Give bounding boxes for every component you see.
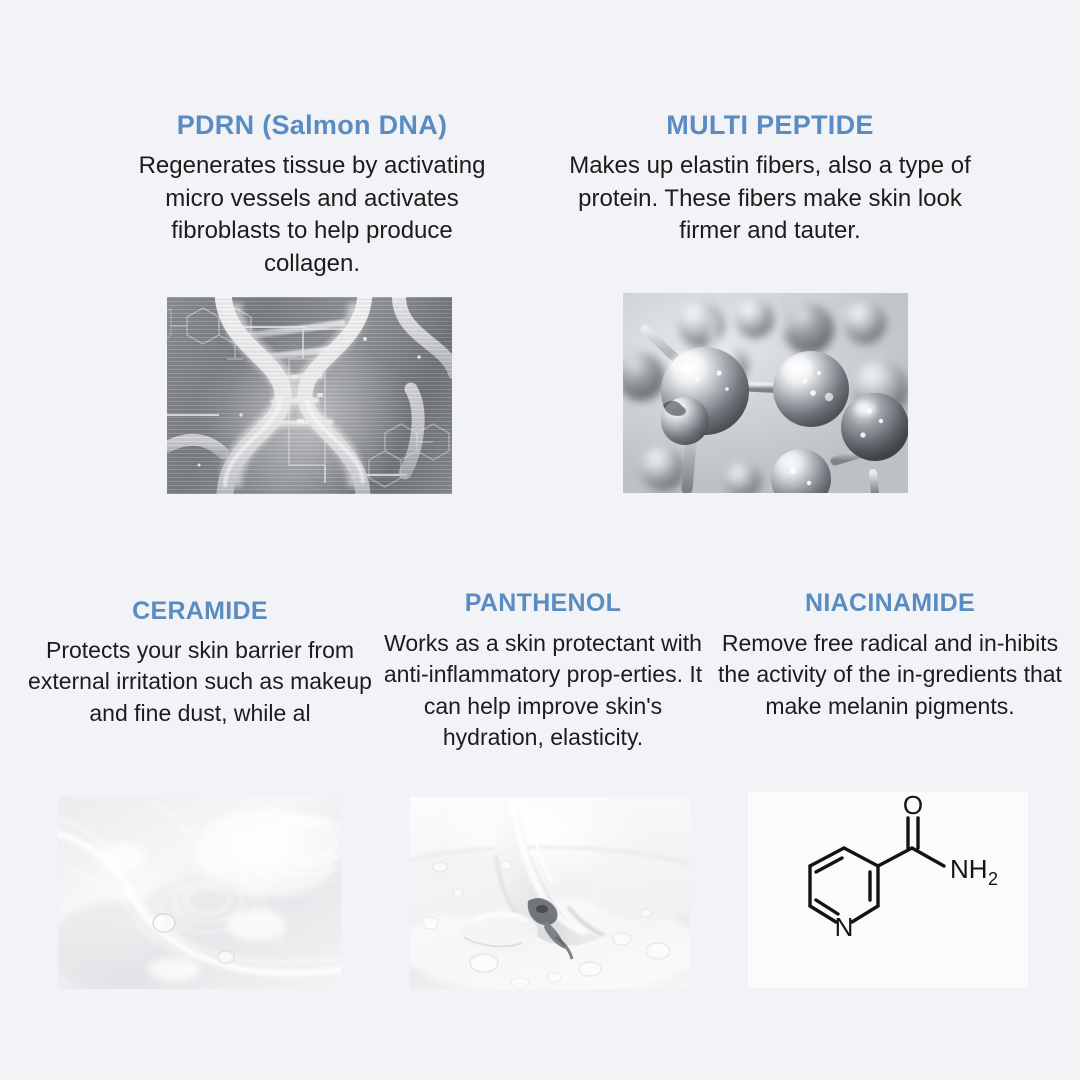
nitrogen-label: N <box>835 912 854 942</box>
ingredient-description-ceramide: Protects your skin barrier from external… <box>18 635 382 729</box>
water-ripple-image <box>58 797 341 989</box>
amine-subscript-label: 2 <box>988 869 998 889</box>
ingredient-card-panthenol: PANTHENOL Works as a skin protectant wit… <box>378 588 708 753</box>
ingredient-description-niacinamide: Remove free radical and in-hibits the ac… <box>716 628 1064 722</box>
ingredient-description-panthenol: Works as a skin protectant with anti-inf… <box>378 628 708 753</box>
ingredient-card-pdrn: PDRN (Salmon DNA) Regenerates tissue by … <box>112 108 512 281</box>
ingredient-title-niacinamide: NIACINAMIDE <box>716 588 1064 618</box>
ingredient-card-multi-peptide: MULTI PEPTIDE Makes up elastin fibers, a… <box>560 108 980 248</box>
niacinamide-structure-graphic: N O NH 2 <box>748 792 1028 988</box>
ingredient-description-pdrn: Regenerates tissue by activating micro v… <box>112 150 512 281</box>
water-ripple-graphic <box>58 797 341 989</box>
ingredient-infographic: PDRN (Salmon DNA) Regenerates tissue by … <box>0 0 1080 1080</box>
ingredient-title-pdrn: PDRN (Salmon DNA) <box>112 108 512 142</box>
clear-gel-graphic <box>410 797 690 989</box>
ingredient-title-multi-peptide: MULTI PEPTIDE <box>560 108 980 142</box>
molecule-graphic <box>623 293 908 493</box>
ingredient-title-panthenol: PANTHENOL <box>378 588 708 618</box>
ingredient-card-niacinamide: NIACINAMIDE Remove free radical and in-h… <box>716 588 1064 722</box>
ingredient-card-ceramide: CERAMIDE Protects your skin barrier from… <box>18 596 382 729</box>
niacinamide-structure-image: N O NH 2 <box>748 792 1028 988</box>
dna-glow-overlay <box>167 297 452 494</box>
molecule-spheres-image <box>623 293 908 493</box>
amine-label: NH <box>950 854 988 884</box>
ingredient-title-ceramide: CERAMIDE <box>18 596 382 626</box>
dna-double-helix-image <box>167 297 452 494</box>
ingredient-description-multi-peptide: Makes up elastin fibers, also a type of … <box>560 150 980 248</box>
oxygen-label: O <box>903 792 923 820</box>
clear-gel-image <box>410 797 690 989</box>
